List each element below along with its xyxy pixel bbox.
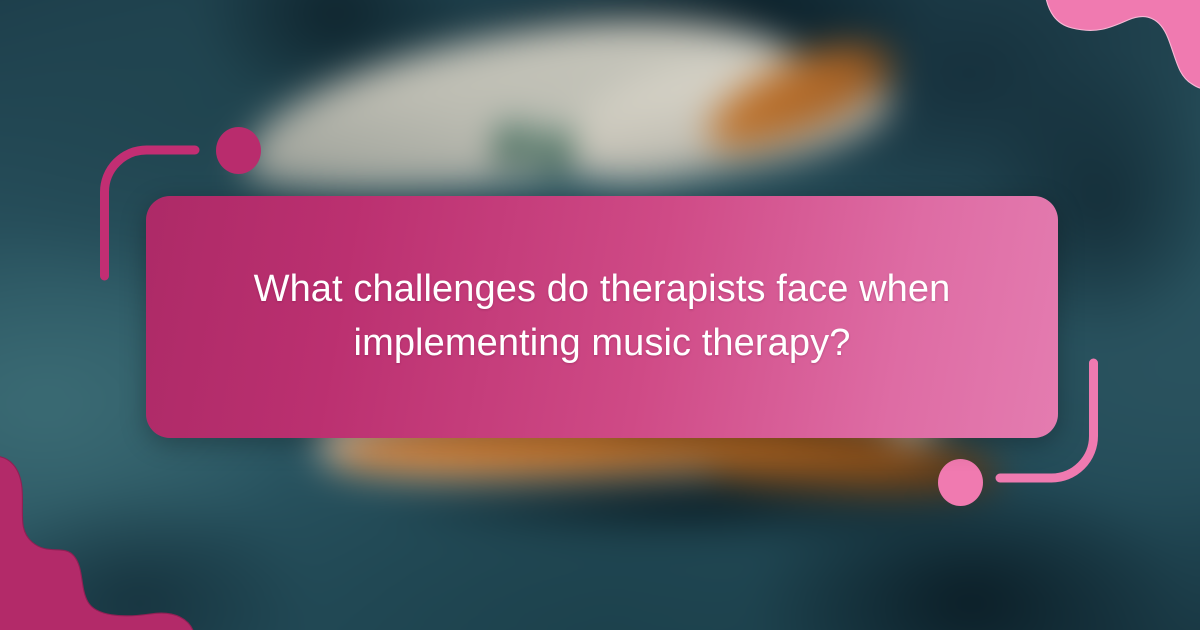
wavy-blob-top-right [1000,0,1200,123]
question-text: What challenges do therapists face when … [207,263,997,371]
question-card: What challenges do therapists face when … [146,196,1058,438]
sneaker-drop-shadow [370,460,1010,540]
social-card-canvas: What challenges do therapists face when … [0,0,1200,630]
wavy-blob-bottom-left [0,438,213,630]
accent-dot-top-left [216,127,261,174]
accent-dot-bottom-right [938,459,983,506]
